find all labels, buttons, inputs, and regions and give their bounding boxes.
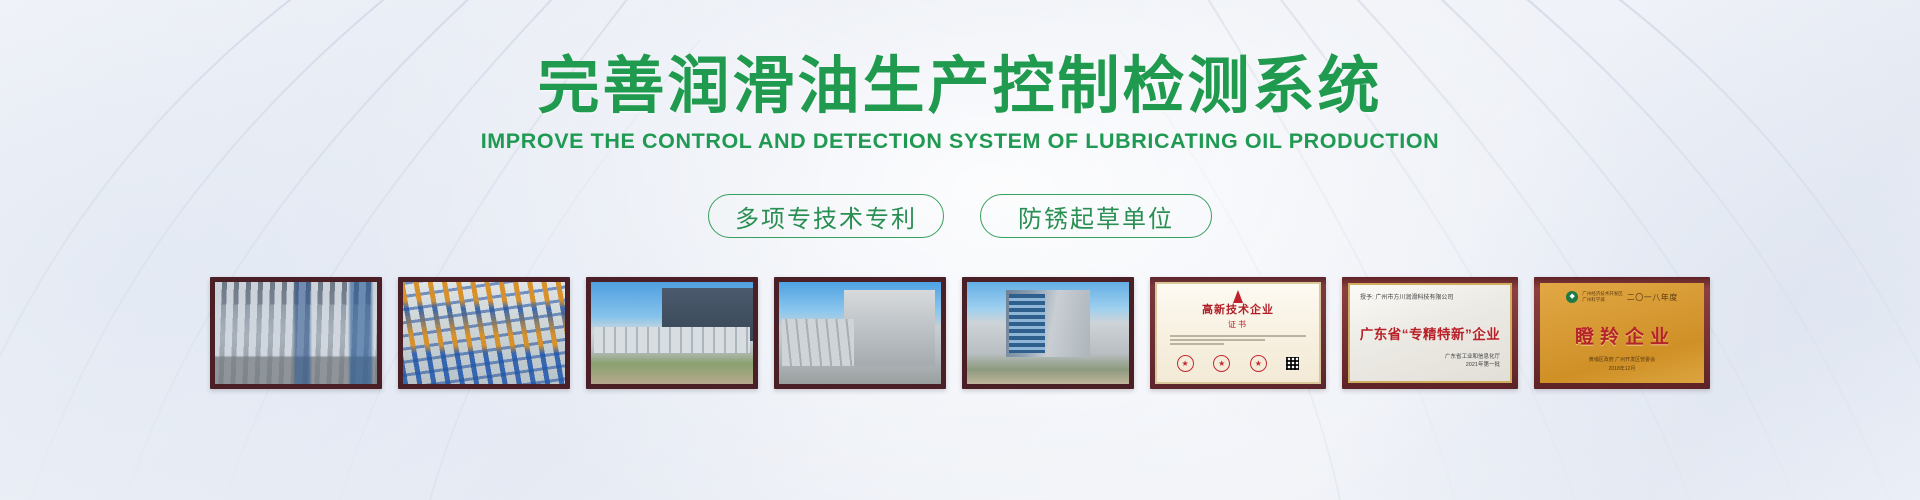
certificate-subtitle: 证书: [1228, 319, 1248, 330]
certificate-seal-row: ★ ★ ★: [1157, 355, 1319, 372]
headline-block: 完善润滑油生产控制检测系统 IMPROVE THE CONTROL AND DE…: [0, 54, 1920, 154]
plaque-title: 广东省“专精特新”企业: [1360, 323, 1501, 343]
certificate-body: 高新技术企业 证书 ★ ★ ★: [1155, 282, 1321, 384]
plaque-issuer: 广东省工业和信息化厅 2021年第一批: [1445, 353, 1500, 370]
seal-icon: ★: [1177, 355, 1194, 372]
photo-production-line[interactable]: [210, 277, 382, 389]
plaque-issue-date: 2021年第一批: [1445, 361, 1500, 369]
gold-plaque-body: ◆ 广州经济技术开发区 广州科学城 二〇一八年度 瞪羚企业 黄埔区政府 广州开发…: [1540, 283, 1704, 383]
photo-office-building[interactable]: [962, 277, 1134, 389]
gold-plaque-org-line1: 广州经济技术开发区: [1582, 291, 1623, 296]
gold-plaque-title: 瞪羚企业: [1569, 322, 1675, 349]
photo-factory-building-image: [779, 282, 941, 384]
photo-blue-piping-image: [403, 282, 565, 384]
photo-storage-tanks[interactable]: [586, 277, 758, 389]
page-subtitle: IMPROVE THE CONTROL AND DETECTION SYSTEM…: [0, 129, 1920, 154]
plaque-specialized-new-enterprise[interactable]: 授予: 广州市方川润滑科技有限公司 广东省“专精特新”企业 广东省工业和信息化厅…: [1342, 277, 1518, 389]
photo-office-building-image: [967, 282, 1129, 384]
seal-icon: ★: [1250, 355, 1267, 372]
flame-icon: [1233, 290, 1243, 303]
gold-plaque-issuer: 黄埔区政府 广州开发区管委会: [1540, 356, 1704, 365]
gold-plaque-org: 广州经济技术开发区 广州科学城: [1582, 291, 1623, 302]
photo-blue-piping[interactable]: [398, 277, 570, 389]
tag-pill-patents-label: 多项专技术专利: [735, 199, 917, 234]
tag-pill-antirust-standard-label: 防锈起草单位: [1018, 199, 1174, 234]
development-zone-logo-icon: ◆: [1566, 291, 1578, 303]
tag-pill-antirust-standard[interactable]: 防锈起草单位: [980, 194, 1212, 238]
plaque-awardee: 授予: 广州市方川润滑科技有限公司: [1360, 292, 1453, 301]
tag-pill-row: 多项专技术专利 防锈起草单位: [0, 194, 1920, 238]
gold-plaque-footer: 黄埔区政府 广州开发区管委会 2018年12月: [1540, 356, 1704, 373]
hero-banner: 完善润滑油生产控制检测系统 IMPROVE THE CONTROL AND DE…: [0, 0, 1920, 500]
plaque-issuer-name: 广东省工业和信息化厅: [1445, 353, 1500, 361]
certificate-high-tech-enterprise[interactable]: 高新技术企业 证书 ★ ★ ★: [1150, 277, 1326, 389]
seal-icon: ★: [1213, 355, 1230, 372]
qr-code-icon: [1286, 357, 1299, 370]
tag-pill-patents[interactable]: 多项专技术专利: [708, 194, 944, 238]
photo-factory-building[interactable]: [774, 277, 946, 389]
photo-production-line-image: [215, 282, 377, 384]
gold-plaque-year: 二〇一八年度: [1627, 292, 1678, 303]
certificate-title: 高新技术企业: [1202, 305, 1274, 316]
photo-storage-tanks-image: [591, 282, 753, 384]
page-title: 完善润滑油生产控制检测系统: [0, 54, 1920, 121]
gold-plaque-org-line2: 广州科学城: [1582, 297, 1605, 302]
plaque-gazelle-enterprise[interactable]: ◆ 广州经济技术开发区 广州科学城 二〇一八年度 瞪羚企业 黄埔区政府 广州开发…: [1534, 277, 1710, 389]
plaque-body: 授予: 广州市方川润滑科技有限公司 广东省“专精特新”企业 广东省工业和信息化厅…: [1348, 283, 1512, 383]
gold-plaque-issue-date: 2018年12月: [1540, 365, 1704, 374]
certificate-detail-lines: [1170, 335, 1306, 345]
gold-plaque-header: ◆ 广州经济技术开发区 广州科学城 二〇一八年度: [1540, 291, 1704, 303]
credential-gallery: 高新技术企业 证书 ★ ★ ★ 授予: 广州市方川润滑科技有限公司 广东省“专精…: [0, 277, 1920, 389]
